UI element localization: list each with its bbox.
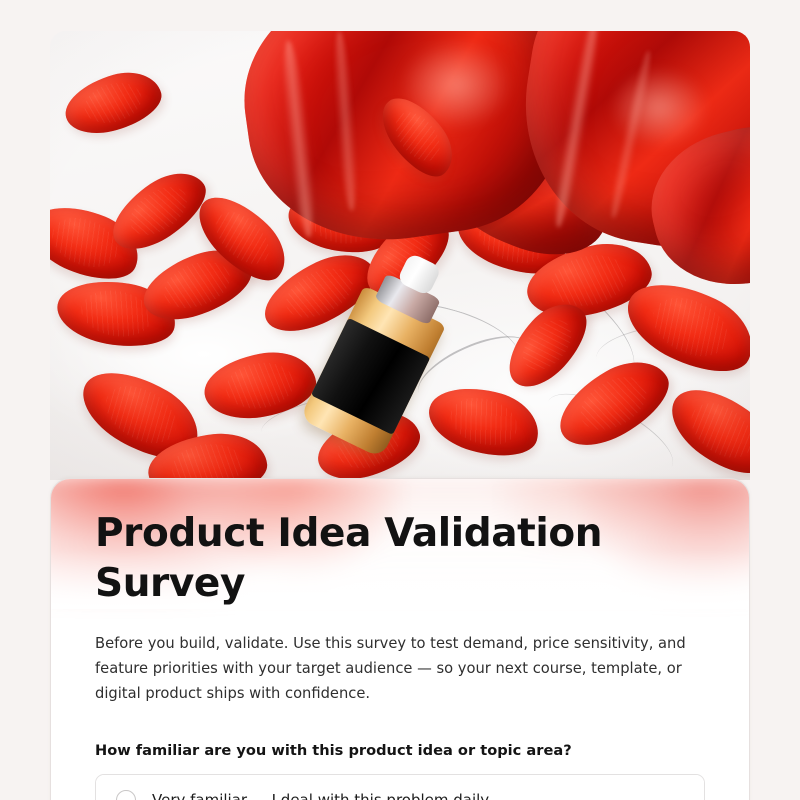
survey-card: Product Idea Validation Survey Before yo… bbox=[50, 478, 750, 800]
balloon-gloss bbox=[610, 67, 708, 148]
radio-option-group[interactable]: Very familiar — I deal with this problem… bbox=[95, 774, 705, 800]
question-label: How familiar are you with this product i… bbox=[95, 740, 705, 762]
card-body: Product Idea Validation Survey Before yo… bbox=[51, 479, 749, 800]
survey-page: Product Idea Validation Survey Before yo… bbox=[0, 0, 800, 800]
hero-photo bbox=[50, 31, 750, 480]
radio-option-very-familiar[interactable]: Very familiar — I deal with this problem… bbox=[96, 775, 704, 800]
radio-circle-icon[interactable] bbox=[116, 790, 136, 800]
radio-option-label: Very familiar — I deal with this problem… bbox=[152, 789, 489, 800]
survey-description: Before you build, validate. Use this sur… bbox=[95, 631, 700, 706]
page-title: Product Idea Validation Survey bbox=[95, 509, 705, 609]
hero-image bbox=[50, 31, 750, 480]
